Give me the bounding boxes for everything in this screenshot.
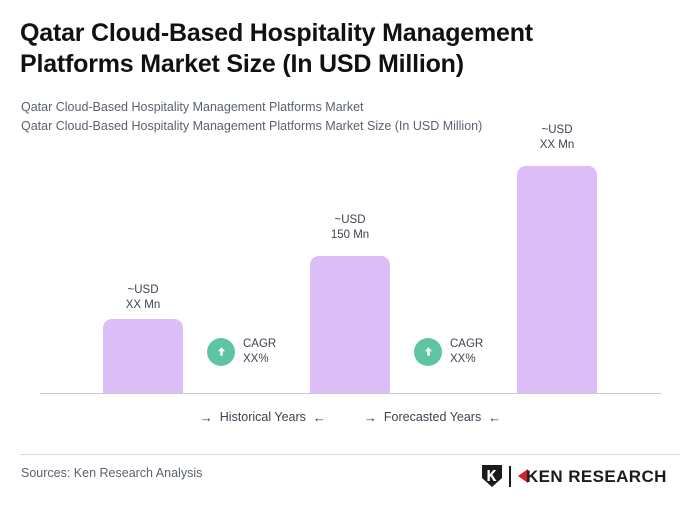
period-historical-label: Historical Years xyxy=(220,410,306,424)
footer-divider xyxy=(20,454,680,455)
bar-chart: ~USD XX Mn ~USD 150 Mn ~USD XX Mn CAGR X… xyxy=(0,0,700,400)
axis-baseline xyxy=(40,393,661,394)
bar-base[interactable] xyxy=(310,256,390,394)
period-legend: → Historical Years ← → Forecasted Years … xyxy=(40,410,661,424)
period-forecasted: → Forecasted Years ← xyxy=(364,410,501,424)
shield-k-icon xyxy=(480,463,504,489)
cagr-badge-2-text: CAGR XX% xyxy=(450,337,483,366)
bar-value-label-2-line1: ~USD xyxy=(310,213,390,228)
bar-value-label-1-line1: ~USD xyxy=(103,283,183,298)
svg-text:KEN RESEARCH: KEN RESEARCH xyxy=(526,467,666,486)
arrow-up-icon xyxy=(414,338,442,366)
cagr-badge-1[interactable]: CAGR XX% xyxy=(207,337,276,366)
bars-container xyxy=(0,0,700,394)
cagr-badge-2-line2: XX% xyxy=(450,352,483,367)
bar-forecast[interactable] xyxy=(517,166,597,394)
cagr-badge-2-line1: CAGR xyxy=(450,337,483,352)
cagr-badge-1-line1: CAGR xyxy=(243,337,276,352)
arrow-up-icon xyxy=(207,338,235,366)
ken-research-logo: KEN RESEARCH xyxy=(480,463,666,489)
period-historical: → Historical Years ← xyxy=(200,410,326,424)
bar-value-label-1-line2: XX Mn xyxy=(103,298,183,313)
logo-wordmark: KEN RESEARCH xyxy=(516,466,666,486)
bar-value-label-2-line2: 150 Mn xyxy=(310,228,390,243)
bar-value-label-3-line1: ~USD xyxy=(517,123,597,138)
period-forecasted-label: Forecasted Years xyxy=(384,410,481,424)
sources-text: Sources: Ken Research Analysis xyxy=(21,466,202,480)
arrow-right-icon: → xyxy=(200,411,213,424)
cagr-badge-1-line2: XX% xyxy=(243,352,276,367)
arrow-left-icon: ← xyxy=(488,411,501,424)
bar-value-label-3: ~USD XX Mn xyxy=(517,123,597,152)
bar-value-label-3-line2: XX Mn xyxy=(517,138,597,153)
arrow-left-icon: ← xyxy=(313,411,326,424)
bar-historical[interactable] xyxy=(103,319,183,394)
cagr-badge-2[interactable]: CAGR XX% xyxy=(414,337,483,366)
bar-value-label-1: ~USD XX Mn xyxy=(103,283,183,312)
cagr-badge-1-text: CAGR XX% xyxy=(243,337,276,366)
logo-divider xyxy=(509,466,511,487)
arrow-right-icon: → xyxy=(364,411,377,424)
bar-value-label-2: ~USD 150 Mn xyxy=(310,213,390,242)
